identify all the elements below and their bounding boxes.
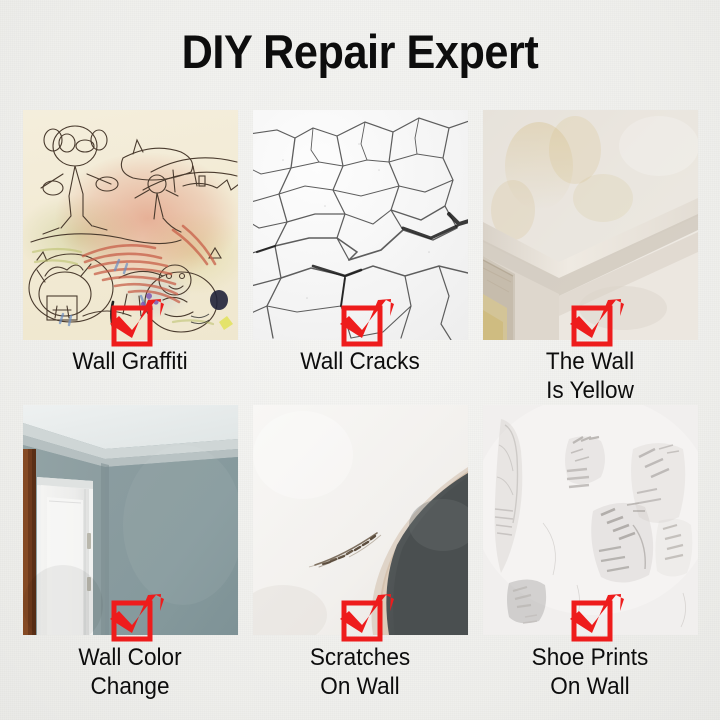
scratches-artwork xyxy=(253,405,468,635)
thumbnail-wrapper[interactable] xyxy=(23,110,238,340)
image-wall-color-change xyxy=(23,405,238,635)
cracks-artwork xyxy=(253,110,468,340)
page-title: DIY Repair Expert xyxy=(29,24,691,80)
image-scratches-on-wall xyxy=(253,405,468,635)
caption-shoe-prints-on-wall: Shoe Prints On Wall xyxy=(482,643,698,701)
image-wall-cracks xyxy=(253,110,468,340)
thumbnail-wrapper[interactable] xyxy=(253,110,468,340)
thumbnail-wrapper[interactable] xyxy=(23,405,238,635)
grid-item-wall-graffiti[interactable]: Wall Graffiti xyxy=(15,110,245,405)
problem-grid: Wall Graffiti xyxy=(15,110,705,701)
grid-item-the-wall-is-yellow[interactable]: The Wall Is Yellow xyxy=(475,110,705,405)
thumbnail-wrapper[interactable] xyxy=(483,405,698,635)
caption-wall-graffiti: Wall Graffiti xyxy=(22,347,238,376)
shoe-prints-artwork xyxy=(483,405,698,635)
caption-wall-cracks: Wall Cracks xyxy=(252,347,468,376)
caption-wall-color-change: Wall Color Change xyxy=(22,643,238,701)
caption-scratches-on-wall: Scratches On Wall xyxy=(252,643,468,701)
yellow-wall-artwork xyxy=(483,110,698,340)
grid-item-shoe-prints-on-wall[interactable]: Shoe Prints On Wall xyxy=(475,405,705,701)
thumbnail-wrapper[interactable] xyxy=(483,110,698,340)
graffiti-artwork xyxy=(23,110,238,340)
caption-the-wall-is-yellow: The Wall Is Yellow xyxy=(482,347,698,405)
image-wall-graffiti xyxy=(23,110,238,340)
grid-item-wall-color-change[interactable]: Wall Color Change xyxy=(15,405,245,701)
image-shoe-prints-on-wall xyxy=(483,405,698,635)
image-the-wall-is-yellow xyxy=(483,110,698,340)
grid-item-scratches-on-wall[interactable]: Scratches On Wall xyxy=(245,405,475,701)
room-artwork xyxy=(23,405,238,635)
thumbnail-wrapper[interactable] xyxy=(253,405,468,635)
grid-item-wall-cracks[interactable]: Wall Cracks xyxy=(245,110,475,405)
